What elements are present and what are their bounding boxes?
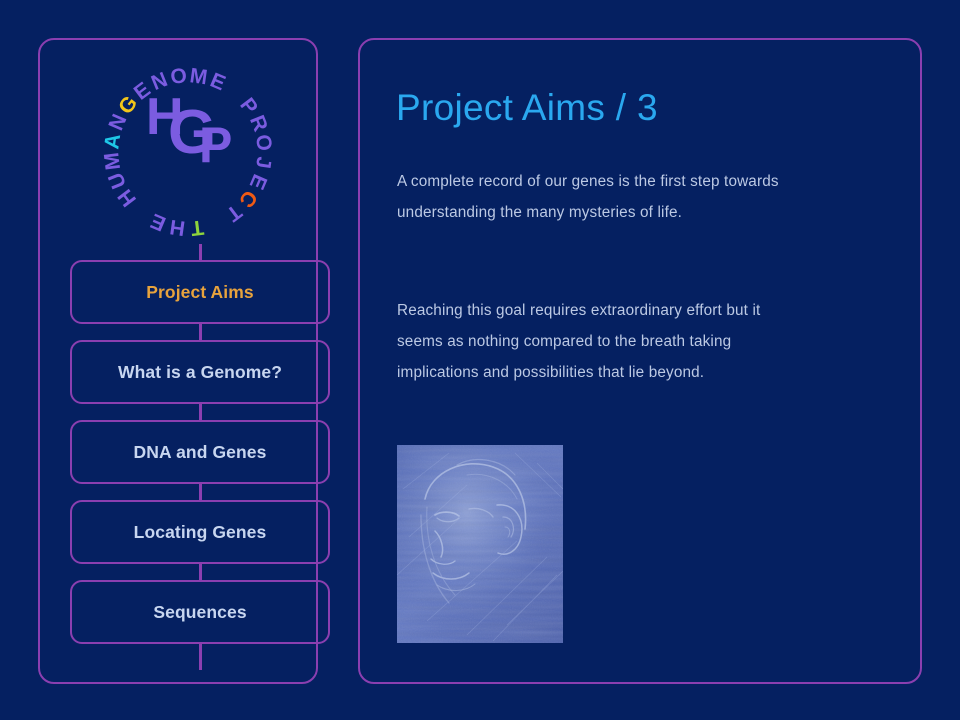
nav-item-label: Locating Genes	[134, 522, 267, 543]
nav-item-label: Sequences	[153, 602, 246, 623]
nav-connector	[199, 324, 202, 340]
logo-monogram-hgp: H G P	[146, 88, 232, 173]
monogram-letter-p: P	[199, 117, 232, 173]
nav-item-what-is-a-genome[interactable]: What is a Genome?	[70, 340, 330, 404]
logo-ring-letter: E	[207, 69, 229, 96]
nav-item-sequences[interactable]: Sequences	[70, 580, 330, 644]
logo-ring-letter: T	[189, 215, 205, 239]
logo-ring-letter: E	[147, 209, 169, 236]
nav-connector	[199, 404, 202, 420]
nav-item-label: What is a Genome?	[118, 362, 282, 383]
nav-item-label: Project Aims	[146, 282, 254, 303]
nav-item-project-aims[interactable]: Project Aims	[70, 260, 330, 324]
logo-ring-letter: R	[245, 112, 272, 135]
section-navigation: Project Aims What is a Genome? DNA and G…	[70, 244, 330, 670]
nav-item-label: DNA and Genes	[134, 442, 267, 463]
nav-item-locating-genes[interactable]: Locating Genes	[70, 500, 330, 564]
logo-ring-letter: O	[251, 133, 276, 152]
logo-ring-letter: J	[251, 155, 275, 170]
nav-connector-bottom	[199, 644, 202, 670]
nav-connector	[199, 484, 202, 500]
logo-ring-letter: U	[104, 169, 131, 192]
portrait-sketch-thumbnail	[397, 445, 563, 643]
the-human-genome-project-logo: GENOMEPROJECTTHEHUMAN H G P	[88, 52, 288, 252]
page-title: Project Aims / 3	[396, 87, 658, 129]
logo-ring-letter: M	[188, 64, 209, 89]
body-paragraph-1: A complete record of our genes is the fi…	[397, 166, 797, 228]
logo-ring-letter: H	[168, 215, 186, 240]
logo-ring-letter: O	[169, 64, 188, 89]
logo-ring-letter: M	[100, 151, 125, 171]
logo-ring-letter: A	[100, 132, 125, 150]
nav-item-dna-and-genes[interactable]: DNA and Genes	[70, 420, 330, 484]
body-paragraph-2: Reaching this goal requires extraordinar…	[397, 295, 797, 388]
nav-connector	[199, 564, 202, 580]
nav-connector-top	[199, 244, 202, 260]
